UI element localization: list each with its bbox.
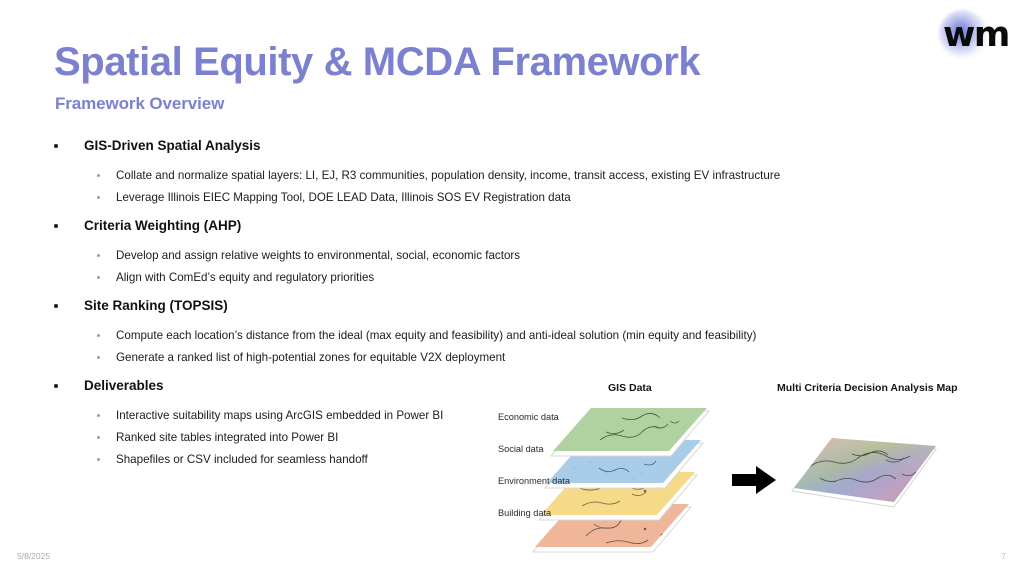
sub-bullet: Align with ComEd’s equity and regulatory… [48, 267, 948, 289]
layer-label-economic: Economic data [498, 412, 559, 422]
layer-label-social: Social data [498, 444, 543, 454]
gis-mcda-diagram: GIS Data Multi Criteria Decision Analysi… [494, 382, 994, 554]
mcda-result-map [790, 430, 940, 520]
sub-bullet: Develop and assign relative weights to e… [48, 245, 948, 267]
sub-bullet: Compute each location’s distance from th… [48, 325, 948, 347]
page-subtitle: Framework Overview [55, 94, 224, 114]
logo-wordmark: wm [943, 18, 1009, 53]
bullet-heading: Site Ranking (TOPSIS) [48, 296, 948, 316]
bullet-heading: GIS-Driven Spatial Analysis [48, 136, 948, 156]
slide: wm Spatial Equity & MCDA Framework Frame… [0, 0, 1023, 577]
diagram-heading-gis-data: GIS Data [608, 382, 652, 394]
bullet-group: Site Ranking (TOPSIS) Compute each locat… [48, 296, 948, 369]
diagram-heading-mcda-map: Multi Criteria Decision Analysis Map [777, 382, 958, 394]
sub-bullet: Leverage Illinois EIEC Mapping Tool, DOE… [48, 187, 948, 209]
right-arrow-icon [732, 465, 778, 495]
layer-label-environment: Environment data [498, 476, 570, 486]
bullet-group: GIS-Driven Spatial Analysis Collate and … [48, 136, 948, 209]
layer-label-building: Building data [498, 508, 551, 518]
page-title: Spatial Equity & MCDA Framework [54, 40, 700, 84]
footer-page-number: 7 [1001, 551, 1006, 561]
sub-bullet: Collate and normalize spatial layers: LI… [48, 165, 948, 187]
bullet-heading: Criteria Weighting (AHP) [48, 216, 948, 236]
bullet-group: Criteria Weighting (AHP) Develop and ass… [48, 216, 948, 289]
footer-date: 5/8/2025 [17, 551, 50, 561]
flow-arrow [732, 465, 778, 495]
wm-logo: wm [935, 12, 1009, 62]
sub-bullet: Generate a ranked list of high-potential… [48, 347, 948, 369]
